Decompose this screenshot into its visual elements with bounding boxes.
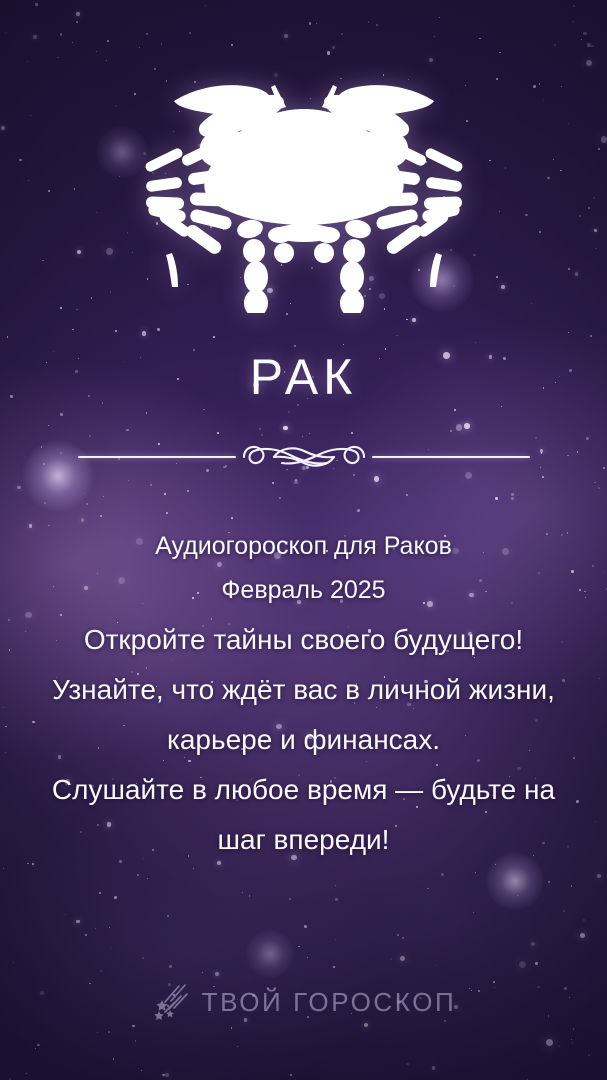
shooting-stars-icon: [151, 982, 189, 1022]
pitch-line: Слушайте в любое время — будьте на: [28, 765, 579, 815]
crab-cancer-zodiac-icon: [104, 47, 504, 313]
page-title: РАК: [0, 352, 607, 402]
horoscope-poster: РАК Аудиогороскоп для Раков Февраль 2025…: [0, 0, 607, 1080]
lead-line: Аудиогороскоп для Раков: [28, 524, 579, 568]
pitch-line: Откройте тайны своего будущего!: [28, 615, 579, 665]
brand-name: ТВОЙ ГОРОСКОП: [202, 987, 457, 1018]
pitch-line: Узнайте, что ждёт вас в личной жизни,: [28, 665, 579, 715]
lead-text: Аудиогороскоп для Раков Февраль 2025: [28, 524, 579, 612]
divider-rule-left: [78, 456, 236, 458]
zodiac-symbol: [0, 44, 607, 316]
ornamental-divider: [0, 434, 607, 480]
description-block: Аудиогороскоп для Раков Февраль 2025 Отк…: [28, 524, 579, 865]
brand-watermark: ТВОЙ ГОРОСКОП: [0, 982, 607, 1022]
pitch-text: Откройте тайны своего будущего! Узнайте,…: [28, 615, 579, 865]
lead-line: Февраль 2025: [28, 568, 579, 612]
pitch-line: шаг впереди!: [28, 815, 579, 865]
flourish-swirl-ornament: [240, 437, 368, 477]
divider-rule-right: [372, 456, 530, 458]
pitch-line: карьере и финансах.: [28, 715, 579, 765]
